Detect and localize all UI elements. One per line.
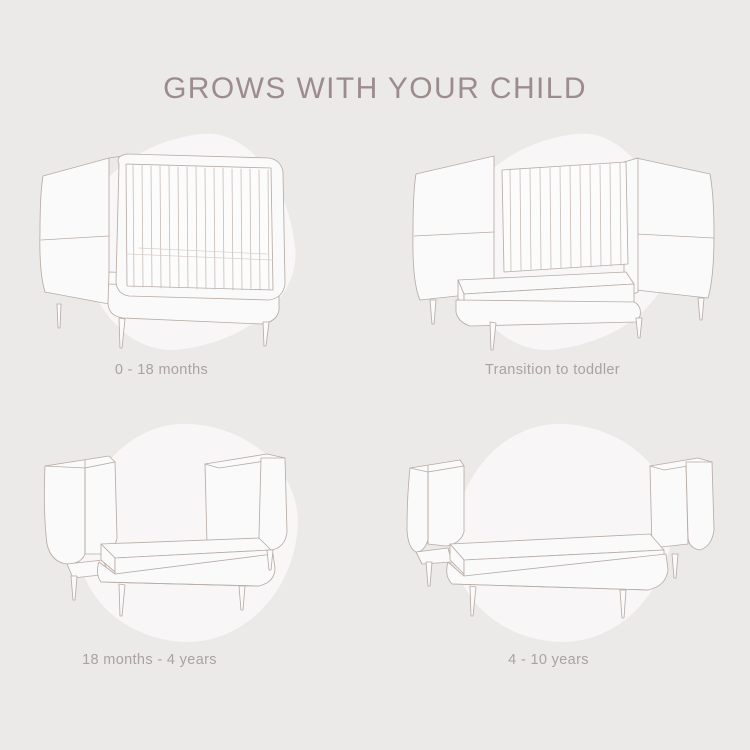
stage-card-toddler-transition: Transition to toddler xyxy=(375,132,750,422)
illustration-stage-day-bed xyxy=(398,422,728,650)
stage-caption-crib: 0 - 18 months xyxy=(115,362,208,378)
stage-card-toddler-bed: 18 months - 4 years xyxy=(0,422,375,712)
crib-illustration xyxy=(23,132,353,360)
toddler-bed-illustration xyxy=(23,422,353,650)
crib-front-rail-removed-illustration xyxy=(398,132,728,360)
illustration-stage-toddler-bed xyxy=(23,422,353,650)
stage-card-crib: 0 - 18 months xyxy=(0,132,375,422)
illustration-stage-crib xyxy=(23,132,353,360)
stage-grid: 0 - 18 months xyxy=(0,132,750,712)
illustration-stage-toddler-transition xyxy=(398,132,728,360)
stage-card-day-bed: 4 - 10 years xyxy=(375,422,750,712)
day-bed-illustration xyxy=(398,422,728,650)
stage-caption-toddler-transition: Transition to toddler xyxy=(485,362,620,378)
grows-with-child-infographic: GROWS WITH YOUR CHILD xyxy=(0,0,750,750)
stage-caption-toddler-bed: 18 months - 4 years xyxy=(82,652,217,668)
stage-caption-day-bed: 4 - 10 years xyxy=(508,652,589,668)
page-title: GROWS WITH YOUR CHILD xyxy=(0,72,750,106)
